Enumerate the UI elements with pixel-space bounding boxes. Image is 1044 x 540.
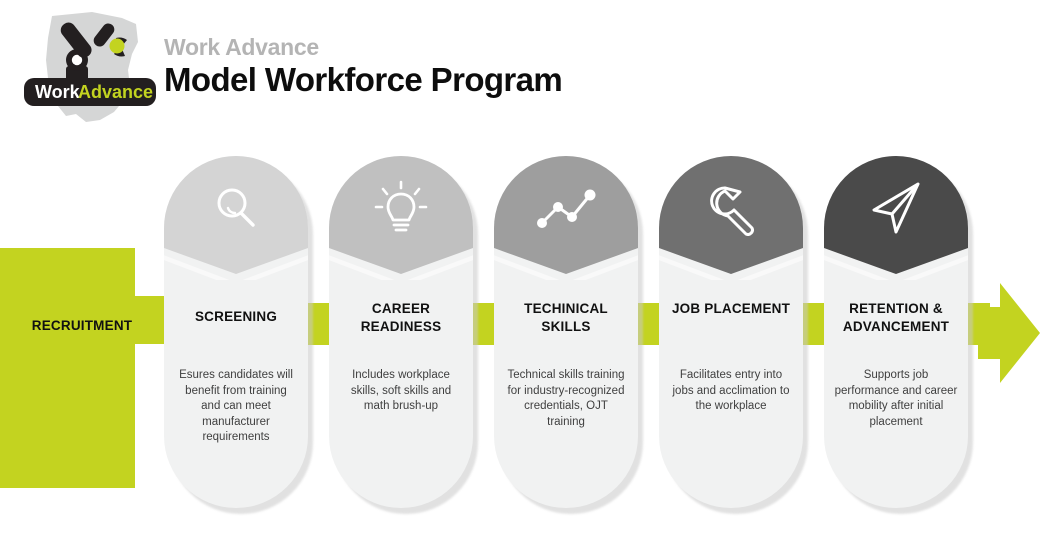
- logo-badge-advance: Advance: [78, 82, 153, 102]
- card-body: RETENTION & ADVANCEMENT Supports job per…: [824, 156, 968, 508]
- magnifier-icon: [164, 174, 308, 244]
- logo-svg: Work Advance: [18, 8, 168, 128]
- infographic-canvas: Work Advance Work Advance Model Workforc…: [0, 0, 1044, 540]
- card-description: Includes workplace skills, soft skills a…: [339, 368, 463, 415]
- card-title: JOB PLACEMENT: [667, 300, 795, 318]
- lightbulb-icon: [329, 174, 473, 244]
- card-title: TECHINICAL SKILLS: [502, 300, 630, 336]
- recruitment-label: RECRUITMENT: [12, 318, 152, 333]
- page-title: Model Workforce Program: [164, 60, 562, 100]
- card-title: CAREER READINESS: [337, 300, 465, 336]
- card-description: Facilitates entry into jobs and acclimat…: [669, 368, 793, 415]
- card-description: Supports job performance and career mobi…: [834, 368, 958, 430]
- card-body: SCREENING Esures candidates will benefit…: [164, 156, 308, 508]
- robot-arm-green-dot: [110, 39, 125, 54]
- card-description: Technical skills training for industry-r…: [504, 368, 628, 430]
- card-title: RETENTION & ADVANCEMENT: [832, 300, 960, 336]
- card-body: CAREER READINESS Includes workplace skil…: [329, 156, 473, 508]
- card-body: TECHINICAL SKILLS Technical skills train…: [494, 156, 638, 508]
- step-card-job-placement[interactable]: JOB PLACEMENT Facilitates entry into job…: [659, 156, 803, 508]
- paper-plane-icon: [824, 174, 968, 244]
- recruitment-arrow-shape: [0, 248, 190, 488]
- step-card-retention-advancement[interactable]: RETENTION & ADVANCEMENT Supports job per…: [824, 156, 968, 508]
- logo-badge-work: Work: [35, 82, 81, 102]
- step-card-technical-skills[interactable]: TECHINICAL SKILLS Technical skills train…: [494, 156, 638, 508]
- workadvance-logo: Work Advance: [18, 8, 168, 128]
- line-chart-icon: [494, 174, 638, 244]
- title-block: Work Advance Model Workforce Program: [164, 34, 562, 100]
- header-eyebrow: Work Advance: [164, 34, 562, 60]
- header: Work Advance Work Advance Model Workforc…: [0, 0, 700, 135]
- step-card-screening[interactable]: SCREENING Esures candidates will benefit…: [164, 156, 308, 508]
- card-title: SCREENING: [172, 308, 300, 326]
- step-card-career-readiness[interactable]: CAREER READINESS Includes workplace skil…: [329, 156, 473, 508]
- card-description: Esures candidates will benefit from trai…: [174, 368, 298, 446]
- wrench-icon: [659, 174, 803, 244]
- card-body: JOB PLACEMENT Facilitates entry into job…: [659, 156, 803, 508]
